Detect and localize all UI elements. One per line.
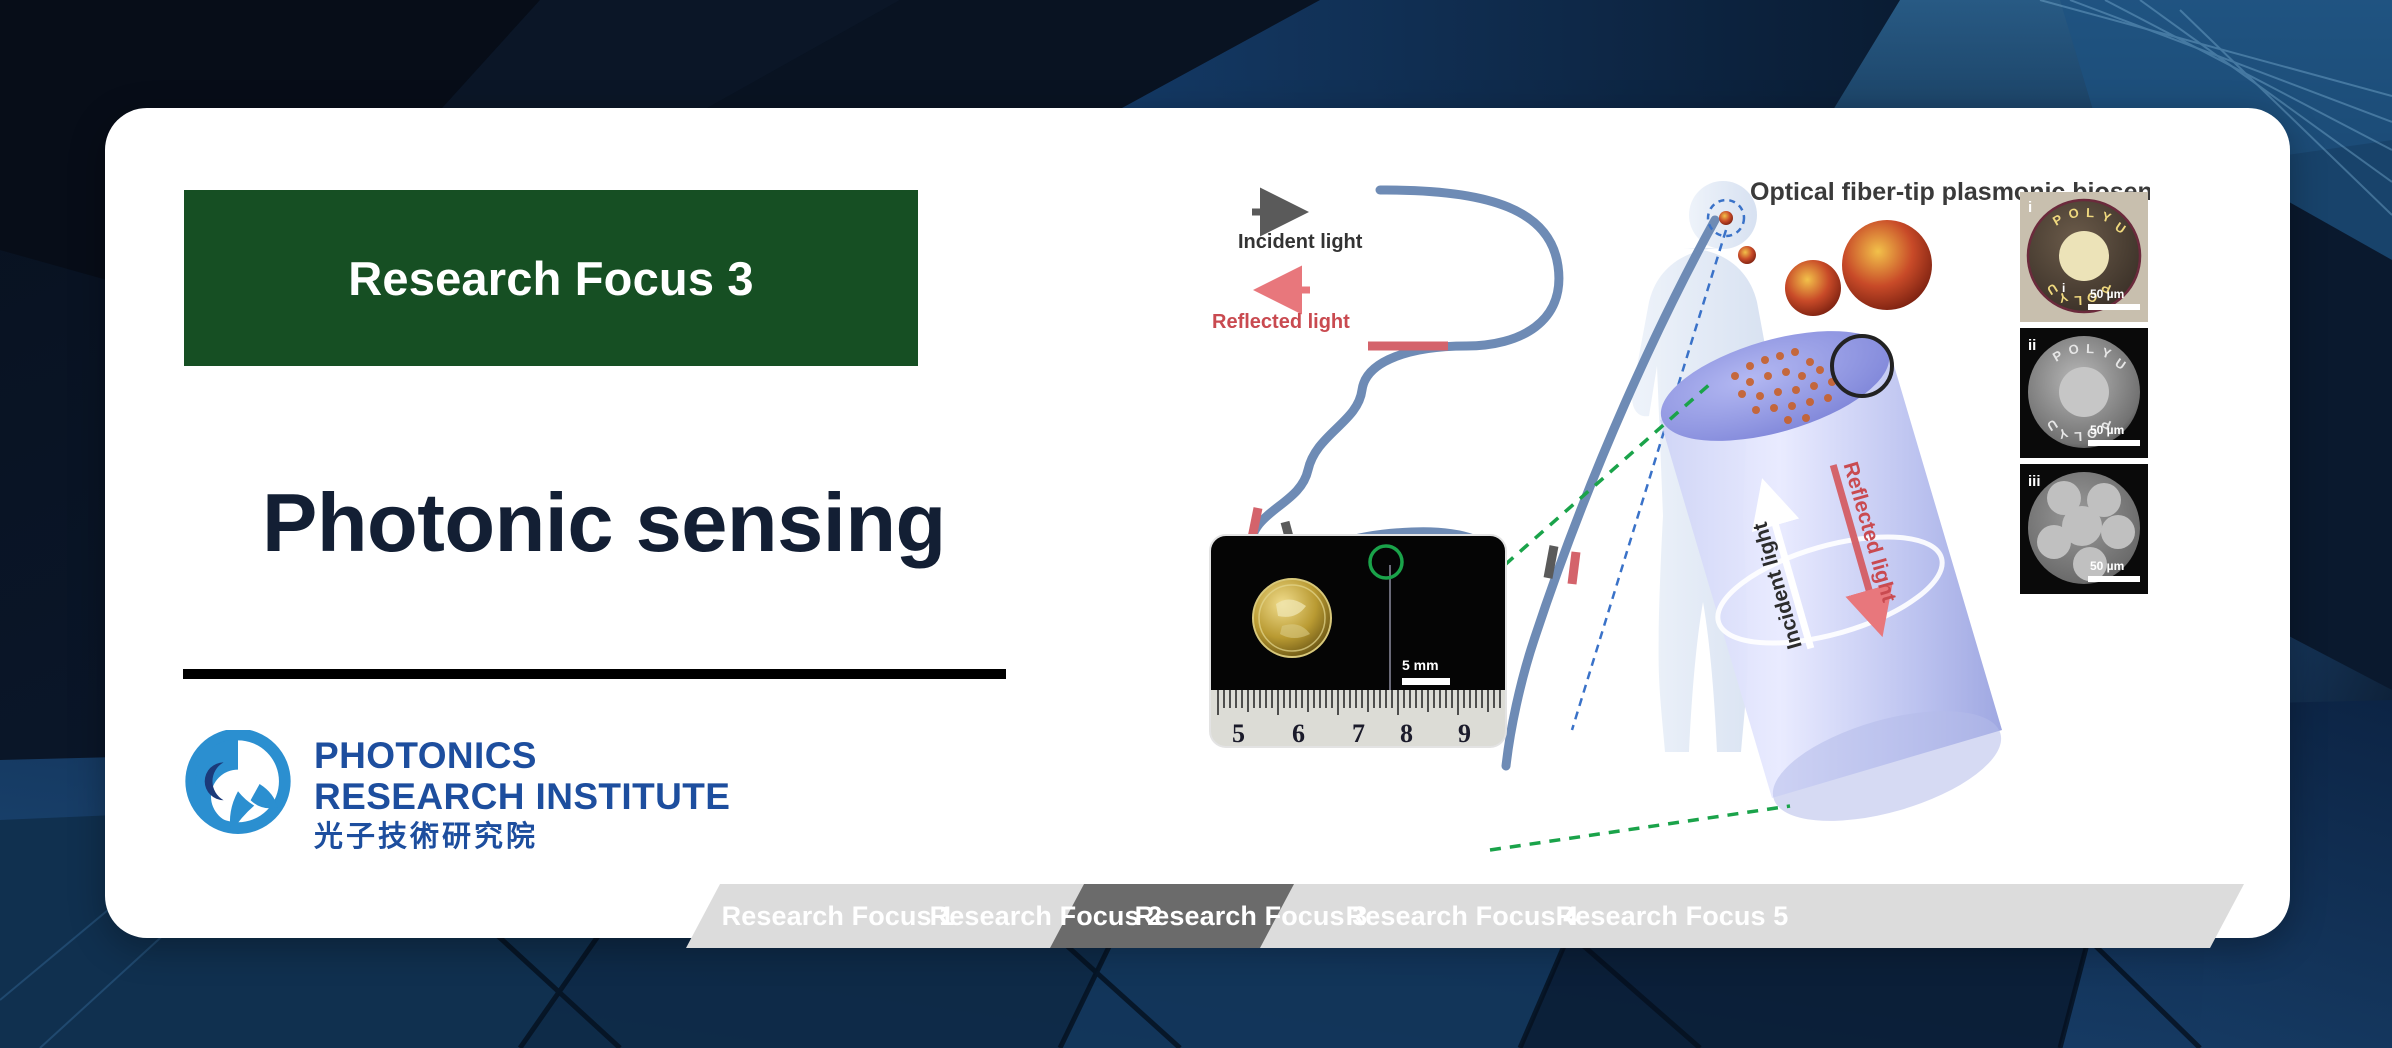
micrograph-panel-i: P O L Y U P O L Y U i i 50 µm: [2020, 192, 2148, 322]
research-focus-badge: Research Focus 3: [184, 190, 918, 366]
svg-text:L: L: [2074, 293, 2083, 308]
svg-text:L: L: [2086, 341, 2095, 356]
micrograph-i-scale-label: 50 µm: [2090, 287, 2124, 301]
logo-line-1: PHOTONICS: [314, 736, 730, 777]
svg-text:L: L: [2074, 429, 2083, 444]
micrograph-i-index-label: i: [2028, 199, 2032, 216]
tab-research-focus-5[interactable]: Research Focus 5: [1512, 884, 1832, 948]
incident-light-annotation: Incident light: [1238, 212, 1363, 253]
photo-scale-bar: [1402, 678, 1450, 685]
reflected-light-label: Reflected light: [1212, 311, 1350, 333]
svg-text:6: 6: [1292, 719, 1305, 748]
title-divider: [183, 669, 1006, 679]
svg-text:8: 8: [1400, 719, 1413, 748]
research-figure: Incident light Reflected light Optical f…: [1190, 170, 2150, 860]
micrograph-iii-scale-label: 50 µm: [2090, 559, 2124, 573]
figure-illustration: Incident light Reflected light Optical f…: [1190, 170, 2150, 860]
micrograph-ii-scale-label: 50 µm: [2090, 423, 2124, 437]
reflected-light-annotation: Reflected light: [1212, 290, 1350, 333]
research-focus-badge-label: Research Focus 3: [348, 251, 754, 306]
logo-line-chinese: 光子技術研究院: [314, 817, 730, 856]
micrograph-panel-ii: P O L Y U P O L Y U ii 50 µm: [2020, 328, 2148, 458]
svg-text:9: 9: [1458, 719, 1471, 748]
micrograph-i-index: i: [2062, 281, 2065, 295]
svg-text:L: L: [2086, 205, 2095, 220]
svg-text:5: 5: [1232, 719, 1245, 748]
research-focus-tabbar[interactable]: Research Focus 1 Research Focus 2 Resear…: [686, 884, 2244, 948]
micrograph-panel-iii: iii 50 µm: [2020, 464, 2148, 594]
logo-line-2: RESEARCH INSTITUTE: [314, 777, 730, 818]
incident-light-label: Incident light: [1238, 231, 1363, 253]
coin-ruler-photo: 5 mm: [1210, 535, 1506, 748]
svg-text:7: 7: [1352, 719, 1365, 748]
page-title: Photonic sensing: [262, 475, 946, 571]
micrograph-iii-index-label: iii: [2028, 473, 2041, 490]
virus-particles: [1785, 220, 1932, 316]
photo-scale-label: 5 mm: [1402, 657, 1439, 673]
micrograph-ii-index-label: ii: [2028, 337, 2036, 354]
photonics-research-institute-logo-icon: [184, 730, 292, 838]
institute-logo: PHOTONICS RESEARCH INSTITUTE 光子技術研究院: [184, 730, 730, 857]
tab-label-5: Research Focus 5: [1556, 901, 1789, 932]
